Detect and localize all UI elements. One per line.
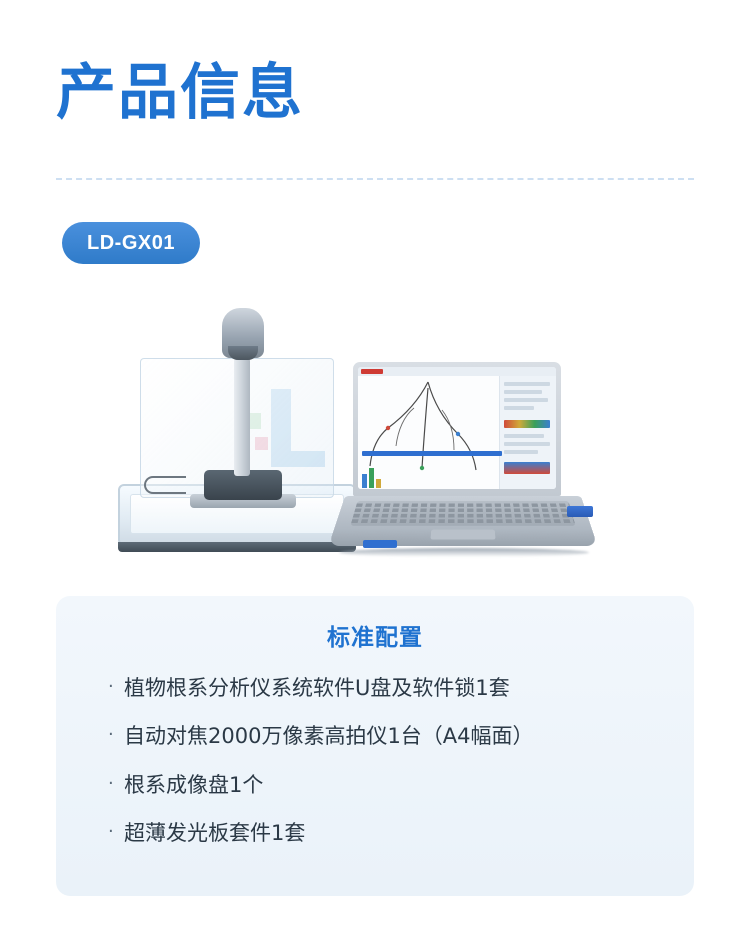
- software-canvas: [358, 376, 500, 489]
- bullet-icon: ·: [108, 819, 124, 845]
- list-item-label: 自动对焦2000万像素高拍仪1台（A4幅面）: [124, 722, 694, 750]
- bullet-icon: ·: [108, 771, 124, 797]
- laptop-device: [345, 362, 595, 560]
- divider: [56, 178, 694, 180]
- laptop-keyboard: [350, 501, 575, 526]
- scanner-cable: [144, 476, 186, 494]
- page-title-block: 产品信息: [56, 62, 304, 125]
- list-item-label: 根系成像盘1个: [124, 771, 694, 799]
- page-title: 产品信息: [56, 62, 304, 125]
- product-info-page: 产品信息 LD-GX01 莱恩德: [0, 0, 750, 926]
- standard-config-card: 标准配置 · 植物根系分析仪系统软件U盘及软件锁1套 · 自动对焦2000万像素…: [56, 596, 694, 896]
- root-scanner-device: [118, 298, 358, 560]
- list-item: · 自动对焦2000万像素高拍仪1台（A4幅面）: [108, 722, 694, 750]
- laptop-base: [329, 496, 598, 546]
- bullet-icon: ·: [108, 722, 124, 748]
- model-badge: LD-GX01: [62, 222, 200, 264]
- list-item: · 根系成像盘1个: [108, 771, 694, 799]
- list-item-label: 超薄发光板套件1套: [124, 819, 694, 847]
- product-image: 莱恩德: [0, 280, 750, 580]
- standard-config-title: 标准配置: [56, 618, 694, 652]
- laptop-screen-bezel: [353, 362, 561, 496]
- scanner-column: [234, 358, 250, 476]
- list-item: · 植物根系分析仪系统软件U盘及软件锁1套: [108, 674, 694, 702]
- list-item-label: 植物根系分析仪系统软件U盘及软件锁1套: [124, 674, 694, 702]
- laptop-touchpad: [430, 530, 495, 540]
- bullet-icon: ·: [108, 674, 124, 700]
- software-side-panel: [499, 376, 556, 489]
- standard-config-list: · 植物根系分析仪系统软件U盘及软件锁1套 · 自动对焦2000万像素高拍仪1台…: [56, 674, 694, 847]
- scanner-tray-base: [118, 542, 356, 552]
- laptop-screen: [358, 367, 556, 489]
- software-logo-icon: [361, 369, 383, 374]
- laptop-front-badge: [363, 540, 397, 548]
- scanner-lens-icon: [228, 346, 258, 360]
- list-item: · 超薄发光板套件1套: [108, 819, 694, 847]
- laptop-shadow: [339, 548, 589, 557]
- usb-dongle-icon: [567, 506, 593, 517]
